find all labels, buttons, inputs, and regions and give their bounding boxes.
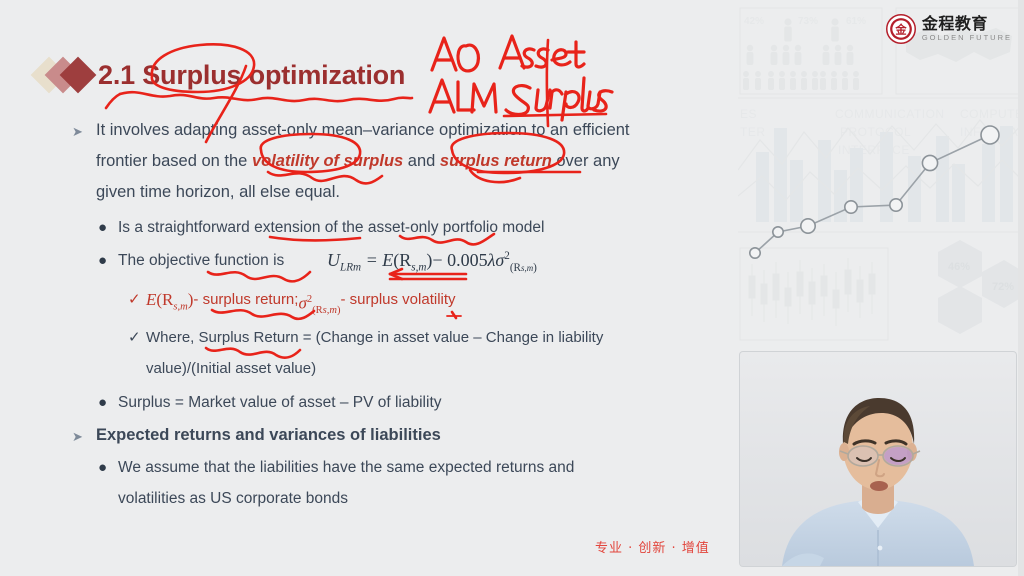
page-title: 2.1 Surplus optimization bbox=[98, 60, 405, 91]
title-diamond-decoration bbox=[36, 57, 98, 93]
round-bullet-icon: ● bbox=[98, 452, 118, 514]
bullet-text: The objective function is bbox=[118, 245, 284, 276]
seal-icon: 金 bbox=[886, 14, 916, 44]
footer-slogan: 专业 · 创新 · 增值 bbox=[595, 537, 710, 556]
formula-e: E bbox=[382, 250, 393, 270]
emphasis-surplus-return: surplus return bbox=[440, 152, 552, 170]
formula-sigma: σ bbox=[495, 250, 504, 270]
formula-e-subscript: s,m bbox=[411, 262, 426, 274]
svg-text:TER: TER bbox=[740, 125, 766, 139]
background-infographic: 42%73%61% ES TER COMMUNICATION PROTOCOL … bbox=[738, 0, 1024, 348]
where-clause: ✓ Where, Surplus Return = (Change in ass… bbox=[128, 322, 708, 384]
check-icon: ✓ bbox=[128, 322, 146, 384]
emphasis-volatility-of-surplus: volatility of surplus bbox=[252, 152, 403, 170]
bullet-level1-intro: ➤ It involves adapting asset-only mean–v… bbox=[72, 115, 696, 208]
formula-u: U bbox=[327, 250, 340, 270]
instructor-video-feed[interactable] bbox=[740, 352, 1016, 566]
svg-text:ES: ES bbox=[740, 107, 757, 121]
formula-legend-line: ✓ E(Rs,m) - surplus return; σ2(Rs,m) - s… bbox=[128, 284, 456, 326]
where-line2: value)/(Initial asset value) bbox=[146, 360, 316, 377]
where-line1: Where, Surplus Return = (Change in asset… bbox=[146, 329, 603, 346]
bullet-level2-surplus-def: ● Surplus = Market value of asset – PV o… bbox=[98, 387, 442, 418]
svg-text:INTERFACE: INTERFACE bbox=[838, 143, 910, 157]
legend-sigma: σ2(Rs,m) bbox=[298, 284, 340, 326]
bullet-text-line3: given time horizon, all else equal. bbox=[96, 183, 340, 201]
round-bullet-icon: ● bbox=[98, 387, 118, 418]
svg-text:46%: 46% bbox=[948, 261, 970, 273]
formula-open-paren: (R bbox=[393, 250, 411, 270]
assumption-line2: volatilities as US corporate bonds bbox=[118, 490, 348, 507]
bullet-level2-objective: ● The objective function is bbox=[98, 245, 284, 276]
legend-e-description: - surplus return; bbox=[193, 284, 298, 326]
round-bullet-icon: ● bbox=[98, 245, 118, 276]
bullet-text-line2-post: over any bbox=[552, 152, 620, 170]
svg-text:72%: 72% bbox=[992, 281, 1014, 293]
formula-sigma-exponent: 2 bbox=[504, 250, 510, 262]
right-edge-strip bbox=[1018, 0, 1024, 576]
brand-logo: 金 金程教育 GOLDEN FUTURE bbox=[886, 14, 1012, 44]
slide-stage: 42%73%61% ES TER COMMUNICATION PROTOCOL … bbox=[0, 0, 1024, 576]
section-heading: Expected returns and variances of liabil… bbox=[96, 420, 696, 452]
formula-equals: = bbox=[366, 250, 378, 270]
bullet-text: Is a straightforward extension of the as… bbox=[118, 212, 544, 243]
svg-text:金: 金 bbox=[894, 23, 907, 37]
bullet-text: Surplus = Market value of asset – PV of … bbox=[118, 387, 442, 418]
svg-text:42%: 42% bbox=[744, 16, 764, 27]
arrow-bullet-icon: ➤ bbox=[72, 115, 96, 208]
svg-text:61%: 61% bbox=[846, 16, 866, 27]
formula-u-subscript: LRm bbox=[340, 262, 361, 274]
bullet-level1-expected-returns: ➤ Expected returns and variances of liab… bbox=[72, 420, 696, 452]
slide-content: 2.1 Surplus optimization ➤ It involves a… bbox=[0, 0, 740, 576]
bullet-level2-assumption: ● We assume that the liabilities have th… bbox=[98, 452, 698, 514]
bullet-text-line1: It involves adapting asset-only mean–var… bbox=[96, 121, 630, 139]
bullet-level2-extension: ● Is a straightforward extension of the … bbox=[98, 212, 544, 243]
bullet-text-line2-mid: and bbox=[403, 152, 440, 170]
logo-text-en: GOLDEN FUTURE bbox=[922, 34, 1012, 42]
objective-function-formula: ULRm = E(Rs,m)− 0.005λσ2(Rs,m) bbox=[327, 250, 537, 274]
svg-text:73%: 73% bbox=[798, 16, 818, 27]
svg-text:COMMUNICATION: COMMUNICATION bbox=[835, 107, 945, 121]
svg-text:COMPUTER: COMPUTER bbox=[960, 107, 1024, 121]
slide-title-row: 2.1 Surplus optimization bbox=[36, 57, 405, 93]
legend-sigma-description: - surplus volatility bbox=[341, 284, 456, 326]
formula-minus-term: − 0.005 bbox=[432, 250, 487, 270]
round-bullet-icon: ● bbox=[98, 212, 118, 243]
check-icon: ✓ bbox=[128, 284, 146, 326]
legend-formula: E(Rs,m) bbox=[146, 284, 193, 326]
assumption-line1: We assume that the liabilities have the … bbox=[118, 459, 574, 476]
bullet-text-line2-pre: frontier based on the bbox=[96, 152, 252, 170]
formula-sigma-subscript: (Rs,m) bbox=[510, 262, 537, 274]
logo-text-cn: 金程教育 bbox=[922, 16, 1012, 32]
arrow-bullet-icon: ➤ bbox=[72, 420, 96, 452]
